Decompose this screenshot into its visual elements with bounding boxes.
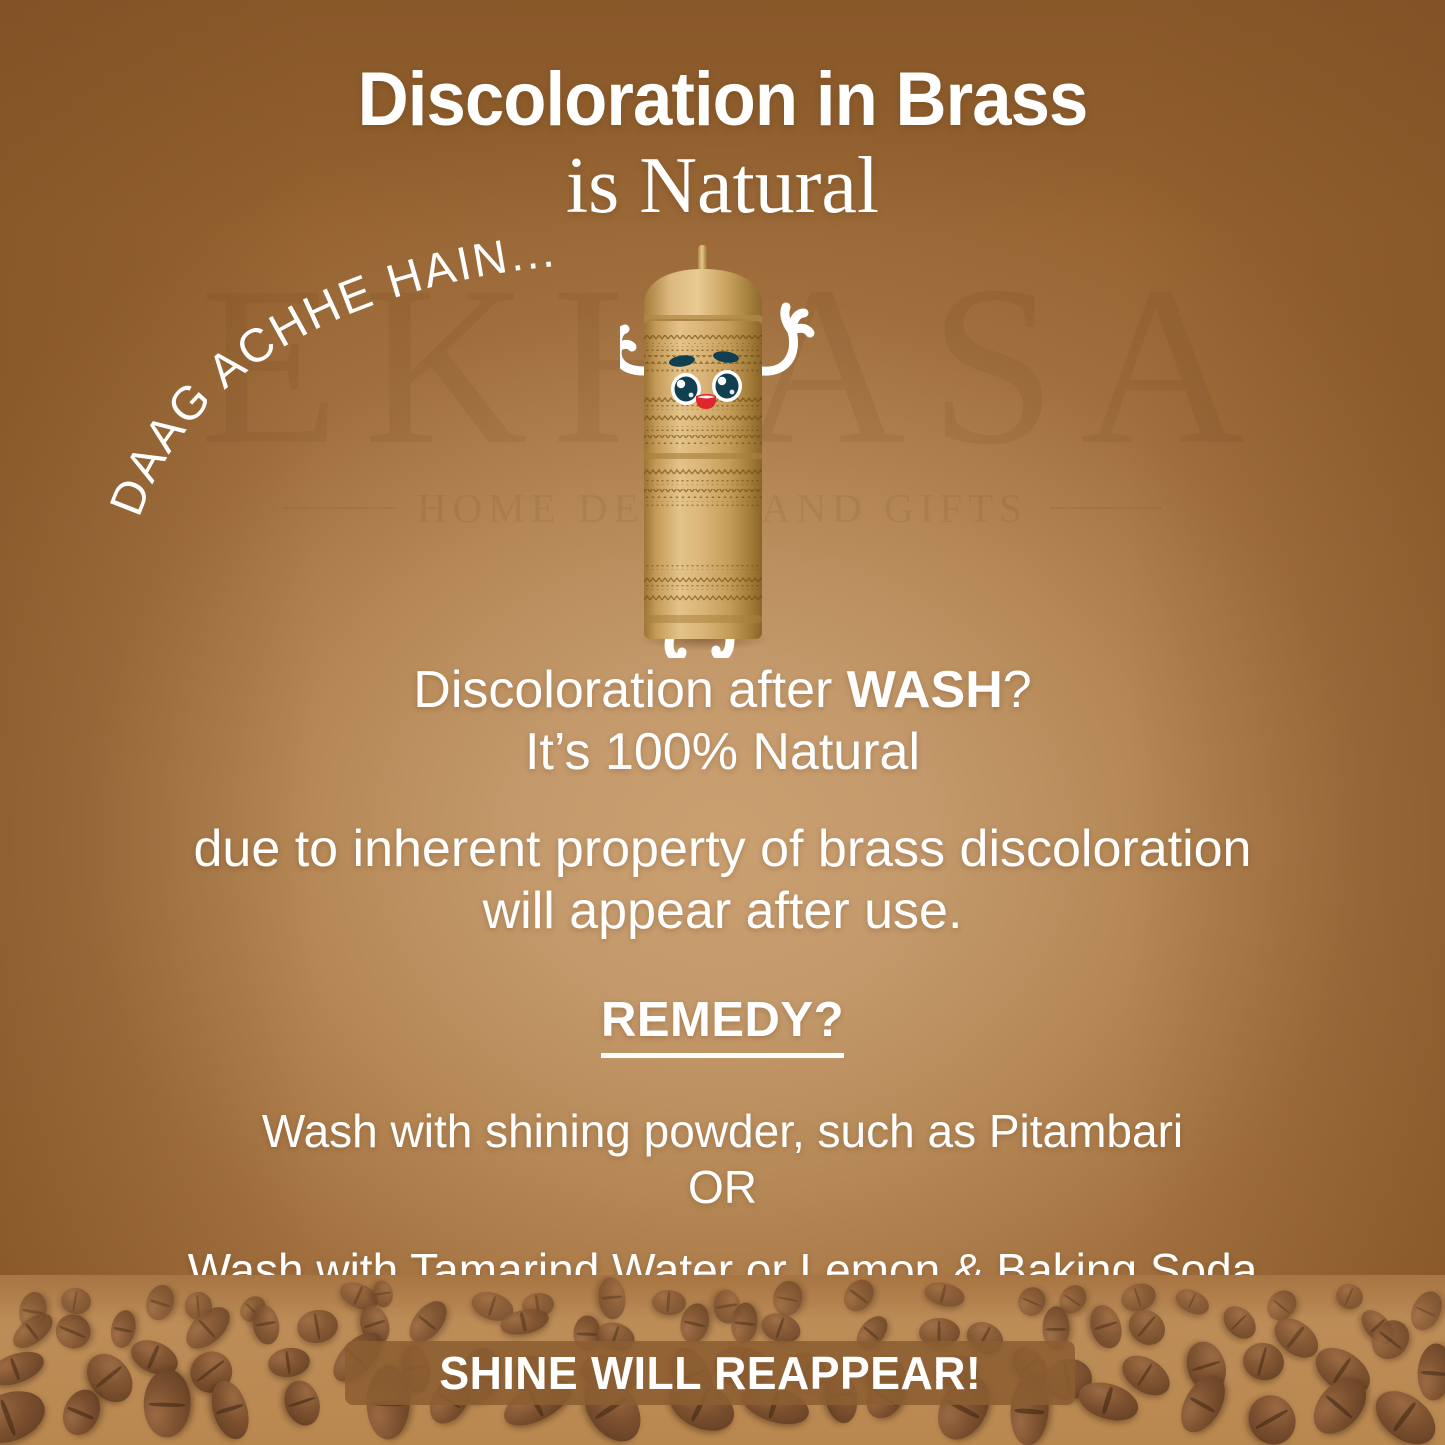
shine-banner: SHINE WILL REAPPEAR! [345,1341,1075,1405]
poster: EKHASA HOME DECOR AND GIFTS Discoloratio… [0,0,1445,1445]
question-line: Discoloration after WASH? [70,660,1375,720]
shine-banner-text: SHINE WILL REAPPEAR! [439,1346,981,1400]
coffee-bean [1415,1342,1445,1402]
coffee-bean [51,1309,96,1354]
coffee-bean [0,1345,48,1392]
remedy-heading: REMEDY? [601,992,844,1058]
mascot-body-seam [644,453,762,459]
coffee-bean [250,1304,282,1346]
coffee-bean [1406,1287,1445,1336]
question-prefix: Discoloration after [413,661,847,719]
mascot-left-arm [620,329,644,371]
coffee-bean [0,1382,52,1445]
explanation-line-1: due to inherent property of brass discol… [70,819,1375,881]
coffee-bean [1013,1282,1049,1320]
explanation-line-2: will appear after use. [70,881,1375,943]
question-suffix: ? [1003,661,1032,719]
coffee-bean [142,1282,179,1325]
coffee-bean [1217,1300,1263,1346]
body-copy: Discoloration after WASH? It’s 100% Natu… [70,660,1375,1353]
coffee-bean [1085,1302,1126,1353]
coffee-bean [1172,1284,1213,1319]
answer-line: It’s 100% Natural [70,722,1375,782]
coffee-bean [295,1306,341,1346]
coffee-bean [596,1276,627,1320]
remedy-heading-wrap: REMEDY? [70,942,1375,1058]
headline-line-2: is Natural [0,143,1445,229]
coffee-bean [59,1285,93,1316]
coffee-bean [922,1279,967,1311]
coffee-bean [279,1376,326,1431]
mascot-lid [644,269,762,319]
mascot-right-arm [762,307,810,371]
remedy-or: OR [70,1160,1375,1215]
coffee-bean [142,1368,191,1438]
headline-line-1: Discoloration in Brass [51,60,1395,141]
coffee-bean [651,1288,687,1316]
page-title: Discoloration in Brass is Natural [0,60,1445,229]
mascot-brass-coffee-filter [620,243,820,658]
coffee-bean [838,1275,880,1317]
question-bold-wash: WASH [847,661,1003,719]
remedy-option-1: Wash with shining powder, such as Pitamb… [70,1104,1375,1159]
coffee-bean [266,1345,312,1380]
mascot-base-rim [644,615,762,623]
mouth-icon [696,394,716,409]
coffee-bean [1332,1279,1367,1313]
coffee-bean [1240,1387,1305,1445]
eye-right-icon [712,370,742,402]
